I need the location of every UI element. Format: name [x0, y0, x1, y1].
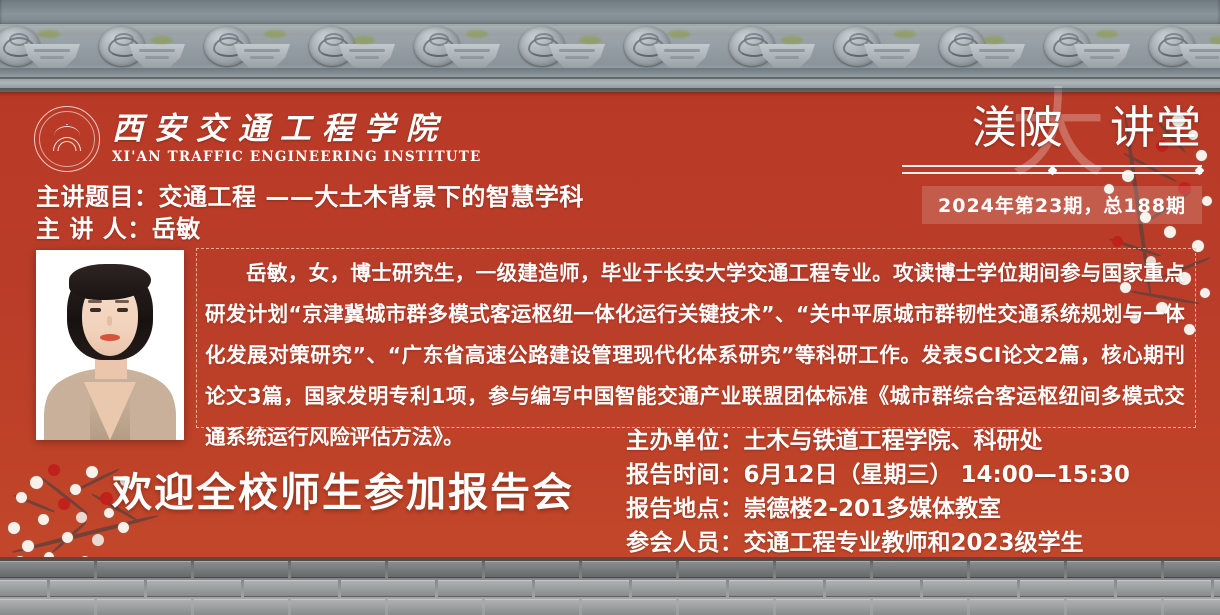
brick: [194, 561, 288, 578]
event-detail-label: 报告地点：: [626, 496, 744, 522]
brick: [1067, 599, 1161, 615]
portrait-mouth: [100, 334, 120, 341]
speaker-bio-box: 岳敏，女，博士研究生，一级建造师，毕业于长安大学交通工程专业。攻读博士学位期间参…: [196, 248, 1196, 428]
roof-moss: [894, 30, 916, 38]
roof-tile: [0, 26, 85, 70]
brick: [341, 580, 435, 597]
roof-moss: [579, 36, 601, 44]
event-detail-value: 土木与铁道工程学院、科研处: [744, 428, 1043, 454]
brick: [970, 561, 1064, 578]
plum-blossom-icon: [1112, 236, 1123, 247]
title-divider: [902, 164, 1202, 176]
roof-moss: [264, 30, 286, 38]
brick: [0, 580, 47, 597]
headline-block: 主讲题目：交通工程 ——大土木背景下的智慧学科 主 讲 人：岳敏: [36, 181, 584, 245]
roof-tile-drip: [864, 44, 920, 68]
roof-tile: [715, 26, 820, 70]
roof-moss: [38, 30, 60, 38]
brick: [147, 580, 241, 597]
plum-blossom-icon: [22, 540, 34, 552]
plum-branch: [39, 476, 88, 515]
portrait-shoulder-right: [130, 378, 176, 440]
brick: [194, 599, 288, 615]
seal-icon: [34, 106, 100, 172]
roof-tile: [505, 26, 610, 70]
brick: [776, 599, 870, 615]
brick-row: [0, 599, 1220, 615]
roof-tile-drip: [129, 44, 185, 68]
brick: [1067, 561, 1161, 578]
roof-tile: [925, 26, 1030, 70]
series-title-block: 大 渼陂讲堂 2024年第23期，总188期: [902, 96, 1202, 224]
roof-moss: [983, 36, 1005, 44]
plum-blossom-icon: [30, 476, 43, 489]
roof-tile-drip: [444, 44, 500, 68]
plum-blossom-icon: [70, 484, 81, 495]
brick: [485, 599, 579, 615]
event-detail-label: 主办单位：: [626, 428, 744, 454]
brick: [582, 599, 676, 615]
brick: [388, 561, 482, 578]
brick: [1164, 561, 1220, 578]
roof-tile-drip: [759, 44, 815, 68]
brick: [50, 580, 144, 597]
roof-moss: [668, 30, 690, 38]
plum-blossom-icon: [1164, 226, 1176, 238]
roof-moss: [151, 36, 173, 44]
brick: [970, 599, 1064, 615]
plum-branch: [12, 514, 159, 554]
brick: [1214, 580, 1220, 597]
plum-blossom-icon: [86, 466, 98, 478]
plum-blossom-icon: [1202, 196, 1212, 206]
welcome-banner: 欢迎全校师生参加报告会: [112, 460, 574, 518]
brick: [291, 561, 385, 578]
plum-blossom-icon: [38, 514, 49, 525]
plum-blossom-icon: [118, 522, 129, 533]
lecture-topic: 主讲题目：交通工程 ——大土木背景下的智慧学科: [36, 181, 584, 213]
portrait-eye-right: [117, 308, 128, 312]
roof-tile: [295, 26, 400, 70]
roof-tile-drip: [234, 44, 290, 68]
plum-blossom-icon: [58, 498, 70, 510]
institution-name-block: 西安交通工程学院 XI'AN TRAFFIC ENGINEERING INSTI…: [112, 113, 482, 165]
plum-branch: [51, 521, 87, 554]
brick: [388, 599, 482, 615]
brick: [873, 561, 967, 578]
brick: [1117, 580, 1211, 597]
brick: [535, 580, 629, 597]
plum-blossom-icon: [1200, 288, 1210, 298]
roof-tile-drip: [24, 44, 80, 68]
event-details-block: 主办单位：土木与铁道工程学院、科研处报告时间：6月12日（星期三） 14:00—…: [626, 424, 1130, 560]
event-detail-label: 参会人员：: [626, 530, 744, 556]
roof-tiles-row: [0, 26, 1220, 70]
plum-blossom-icon: [92, 534, 104, 546]
roof-top-band: [0, 0, 1220, 26]
roof-tile: [1135, 26, 1220, 70]
roof-drop-shadow: [0, 88, 1220, 97]
roof-tile: [190, 26, 295, 70]
series-title-foreground: 渼陂讲堂: [902, 96, 1202, 160]
roof-moss: [1209, 36, 1220, 44]
series-title-suffix: 讲堂: [1110, 101, 1202, 154]
series-title-prefix: 渼陂: [972, 101, 1064, 154]
portrait-eyebrow-right: [115, 300, 129, 303]
brick: [1020, 580, 1114, 597]
event-detail-value: 崇德楼2-201多媒体教室: [744, 496, 1002, 522]
portrait-neckline: [84, 382, 136, 440]
event-detail-label: 报告时间：: [626, 462, 744, 488]
institution-name-cn: 西安交通工程学院: [112, 113, 482, 146]
event-detail-row: 主办单位：土木与铁道工程学院、科研处: [626, 424, 1130, 458]
brick: [873, 599, 967, 615]
roof-tile: [1030, 26, 1135, 70]
portrait-nose: [107, 316, 112, 326]
brick: [438, 580, 532, 597]
roof-tile-decoration: [0, 0, 1220, 92]
brick: [776, 561, 870, 578]
brick: [97, 599, 191, 615]
brick: [826, 580, 920, 597]
brick: [582, 561, 676, 578]
lecture-poster: 西安交通工程学院 XI'AN TRAFFIC ENGINEERING INSTI…: [0, 0, 1220, 615]
lecture-speaker: 主 讲 人：岳敏: [36, 213, 584, 245]
roof-tile-drip: [339, 44, 395, 68]
roof-tile-drip: [1074, 44, 1130, 68]
brick: [632, 580, 726, 597]
plum-blossom-icon: [48, 464, 60, 476]
series-title: 大 渼陂讲堂: [902, 96, 1202, 162]
brick: [485, 561, 579, 578]
portrait-eye-left: [90, 308, 101, 312]
roof-tile: [820, 26, 925, 70]
event-detail-row: 参会人员：交通工程专业教师和2023级学生: [626, 526, 1130, 560]
event-detail-value: 6月12日（星期三） 14:00—15:30: [744, 462, 1130, 488]
brick-row: [0, 561, 1220, 578]
plum-branch: [13, 494, 55, 513]
brick: [1164, 599, 1220, 615]
brick: [0, 599, 94, 615]
brick: [244, 580, 338, 597]
roof-moss: [781, 36, 803, 44]
roof-tile-drip: [969, 44, 1025, 68]
arch-bridge-icon: [49, 124, 85, 154]
issue-badge: 2024年第23期，总188期: [922, 186, 1202, 224]
roof-tile: [610, 26, 715, 70]
brick: [923, 580, 1017, 597]
plum-blossom-icon: [62, 532, 73, 543]
event-detail-row: 报告时间：6月12日（星期三） 14:00—15:30: [626, 458, 1130, 492]
roof-tile-drip: [1179, 44, 1220, 68]
roof-tile: [400, 26, 505, 70]
brick-wall-decoration: [0, 557, 1220, 615]
portrait-eyebrow-left: [88, 300, 102, 303]
roof-tile-drip: [654, 44, 710, 68]
roof-tile: [85, 26, 190, 70]
plum-blossom-icon: [8, 522, 20, 534]
roof-moss: [1096, 30, 1118, 38]
event-detail-value: 交通工程专业教师和2023级学生: [744, 530, 1084, 556]
brick: [0, 561, 94, 578]
institution-logo: 西安交通工程学院 XI'AN TRAFFIC ENGINEERING INSTI…: [34, 106, 482, 172]
roof-moss: [353, 36, 375, 44]
plum-blossom-icon: [16, 492, 27, 503]
plum-blossom-icon: [76, 512, 87, 523]
brick: [291, 599, 385, 615]
brick: [679, 599, 773, 615]
event-detail-row: 报告地点：崇德楼2-201多媒体教室: [626, 492, 1130, 526]
roof-moss: [466, 30, 488, 38]
brick: [97, 561, 191, 578]
brick: [729, 580, 823, 597]
institution-name-en: XI'AN TRAFFIC ENGINEERING INSTITUTE: [112, 149, 482, 165]
brick-row: [0, 580, 1220, 597]
brick: [679, 561, 773, 578]
speaker-portrait-photo: [36, 250, 184, 440]
roof-tile-drip: [549, 44, 605, 68]
